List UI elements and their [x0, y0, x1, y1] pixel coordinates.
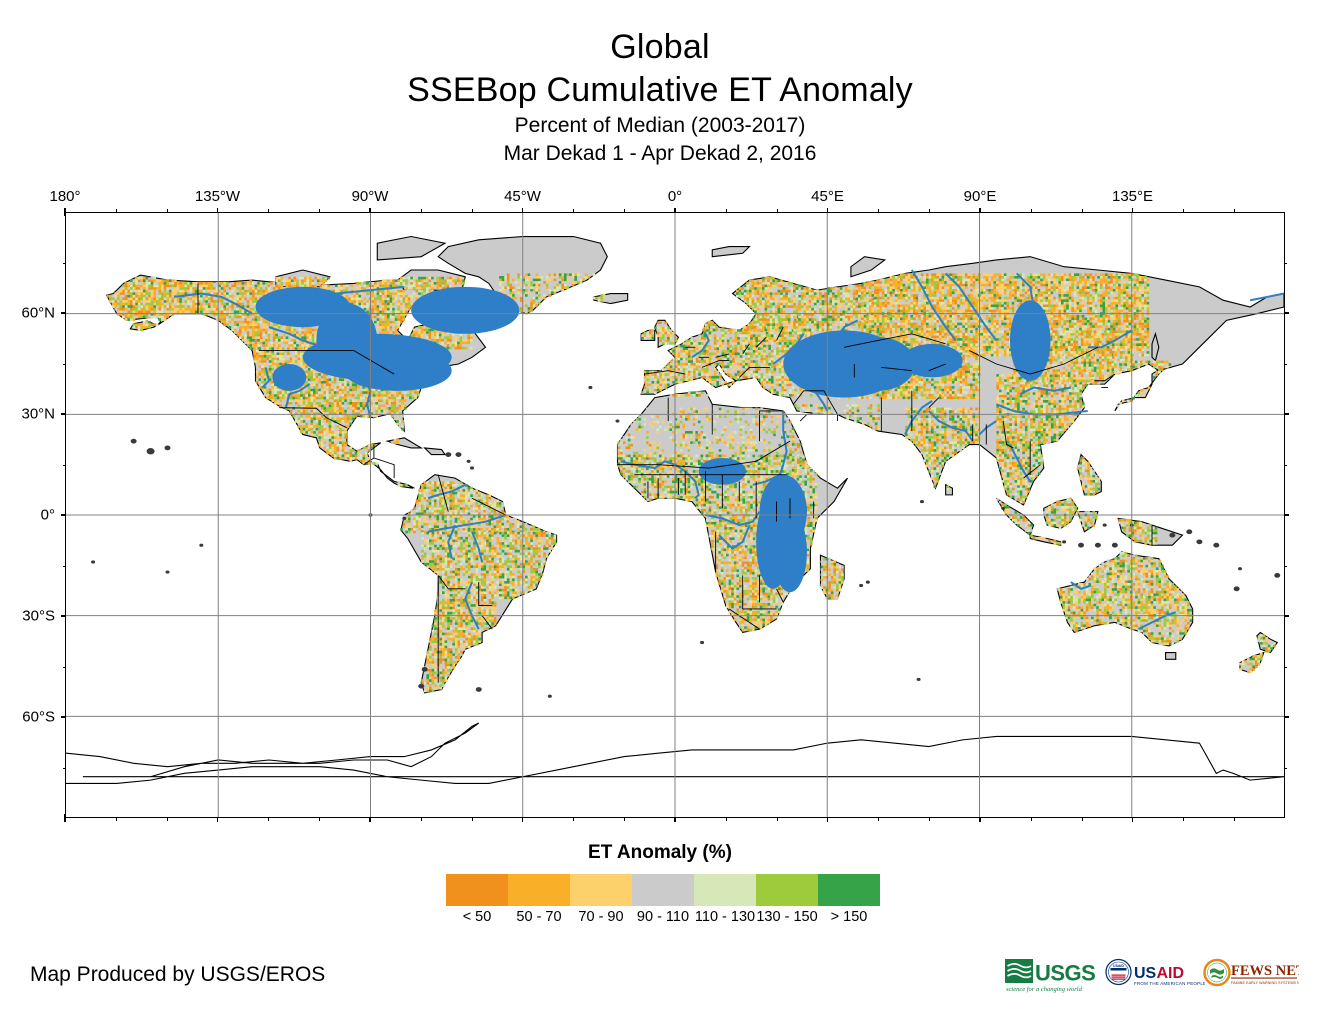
landmass-ellesmere: [377, 237, 445, 260]
island-14: [1274, 573, 1280, 578]
fewsnet-logo: FEWS NET FAMINE EARLY WARNING SYSTEMS NE…: [1203, 957, 1299, 997]
island-23: [422, 667, 428, 672]
country-border-37: [800, 414, 824, 421]
lon-label-1: 135°W: [195, 188, 240, 205]
island-1: [147, 448, 155, 454]
island-25: [476, 687, 482, 692]
island-24: [418, 684, 424, 689]
usaid-logo: USAID US AID FROM THE AMERICAN PEOPLE: [1105, 957, 1205, 997]
legend-swatch-1: [508, 874, 570, 906]
lake-11: [773, 512, 807, 593]
lat-label-0: 60°N: [0, 305, 55, 322]
svg-text:FAMINE EARLY WARNING SYSTEMS N: FAMINE EARLY WARNING SYSTEMS NETWORK: [1231, 981, 1299, 985]
island-29: [1112, 543, 1118, 548]
subtitle-line-2: Mar Dekad 1 - Apr Dekad 2, 2016: [0, 140, 1320, 167]
legend-label-3: 90 - 110: [632, 909, 694, 929]
island-4: [588, 386, 592, 389]
legend-swatch-0: [446, 874, 508, 906]
island-22: [1238, 567, 1242, 570]
island-32: [1062, 540, 1066, 543]
landmass-hispaniola: [425, 448, 445, 455]
legend-label-0: < 50: [446, 909, 508, 929]
island-35: [402, 517, 406, 520]
legend-swatch-3: [632, 874, 694, 906]
landmass-novaya: [851, 257, 885, 277]
lat-label-2: 0°: [0, 507, 55, 524]
legend-label-2: 70 - 90: [570, 909, 632, 929]
legend-title: ET Anomaly (%): [0, 842, 1320, 864]
lon-label-3: 45°W: [504, 188, 541, 205]
lake-2: [377, 357, 445, 384]
subtitle-line-1: Percent of Median (2003-2017): [0, 112, 1320, 140]
svg-text:FEWS NET: FEWS NET: [1231, 963, 1299, 979]
island-2: [131, 439, 137, 444]
island-15: [91, 560, 95, 563]
lake-14: [902, 344, 963, 378]
lon-label-7: 135°E: [1112, 188, 1153, 205]
legend-label-1: 50 - 70: [508, 909, 570, 929]
lat-label-1: 30°N: [0, 406, 55, 423]
legend-label-4: 110 - 130: [694, 909, 756, 929]
lon-label-0: 180°: [49, 188, 80, 205]
lon-label-4: 0°: [668, 188, 682, 205]
island-5: [470, 466, 474, 469]
legend-swatch-4: [694, 874, 756, 906]
landmass-tasmania: [1166, 653, 1176, 660]
lat-label-4: 60°S: [0, 709, 55, 726]
world-map[interactable]: [65, 212, 1285, 818]
svg-text:FROM THE AMERICAN PEOPLE: FROM THE AMERICAN PEOPLE: [1134, 981, 1205, 986]
svg-text:science for a changing world: science for a changing world: [1006, 986, 1083, 993]
island-3: [615, 419, 619, 422]
island-31: [1078, 543, 1084, 548]
country-border-5: [374, 458, 394, 478]
legend-label-5: 130 - 150: [756, 909, 818, 929]
lake-4: [411, 287, 519, 334]
island-11: [920, 500, 924, 503]
landmass-svalbard: [712, 247, 749, 257]
svg-text:USGS: USGS: [1035, 961, 1095, 986]
map-credit: Map Produced by USGS/EROS: [30, 963, 325, 987]
title-line-1: Global: [0, 26, 1320, 68]
island-18: [1169, 533, 1175, 538]
island-27: [917, 678, 921, 681]
island-17: [199, 544, 203, 547]
lon-label-5: 45°E: [811, 188, 844, 205]
island-0: [165, 445, 171, 450]
island-21: [1213, 543, 1219, 548]
island-30: [1095, 543, 1101, 548]
lat-label-3: 30°S: [0, 608, 55, 625]
island-28: [548, 695, 552, 698]
lon-label-2: 90°W: [352, 188, 389, 205]
title-line-2: SSEBop Cumulative ET Anomaly: [0, 68, 1320, 112]
island-12: [1001, 507, 1005, 510]
title-block: Global SSEBop Cumulative ET Anomaly Perc…: [0, 26, 1320, 167]
svg-text:US: US: [1134, 965, 1157, 982]
legend-swatch-5: [756, 874, 818, 906]
svg-text:USAID: USAID: [1113, 964, 1124, 968]
island-8: [445, 452, 451, 457]
island-6: [467, 460, 471, 463]
island-9: [859, 584, 863, 587]
legend-swatch-6: [818, 874, 880, 906]
island-20: [1196, 539, 1202, 544]
map-canvas: [66, 213, 1284, 817]
island-16: [166, 570, 170, 573]
lon-label-6: 90°E: [964, 188, 997, 205]
lake-6: [316, 304, 377, 378]
island-13: [1234, 586, 1240, 591]
lake-3: [272, 364, 306, 391]
legend-color-bar: [446, 874, 880, 906]
island-10: [866, 581, 870, 584]
legend-swatch-2: [570, 874, 632, 906]
island-26: [700, 641, 704, 644]
legend-labels: < 5050 - 7070 - 9090 - 110110 - 130130 -…: [446, 909, 880, 929]
island-7: [455, 452, 461, 457]
island-34: [1103, 523, 1107, 526]
logo-row: USGS science for a changing world USAID …: [1005, 957, 1297, 997]
lake-13: [1010, 300, 1051, 381]
usgs-logo: USGS science for a changing world: [1005, 957, 1097, 997]
legend-label-6: > 150: [818, 909, 880, 929]
island-19: [1186, 529, 1192, 534]
svg-text:AID: AID: [1157, 965, 1185, 982]
